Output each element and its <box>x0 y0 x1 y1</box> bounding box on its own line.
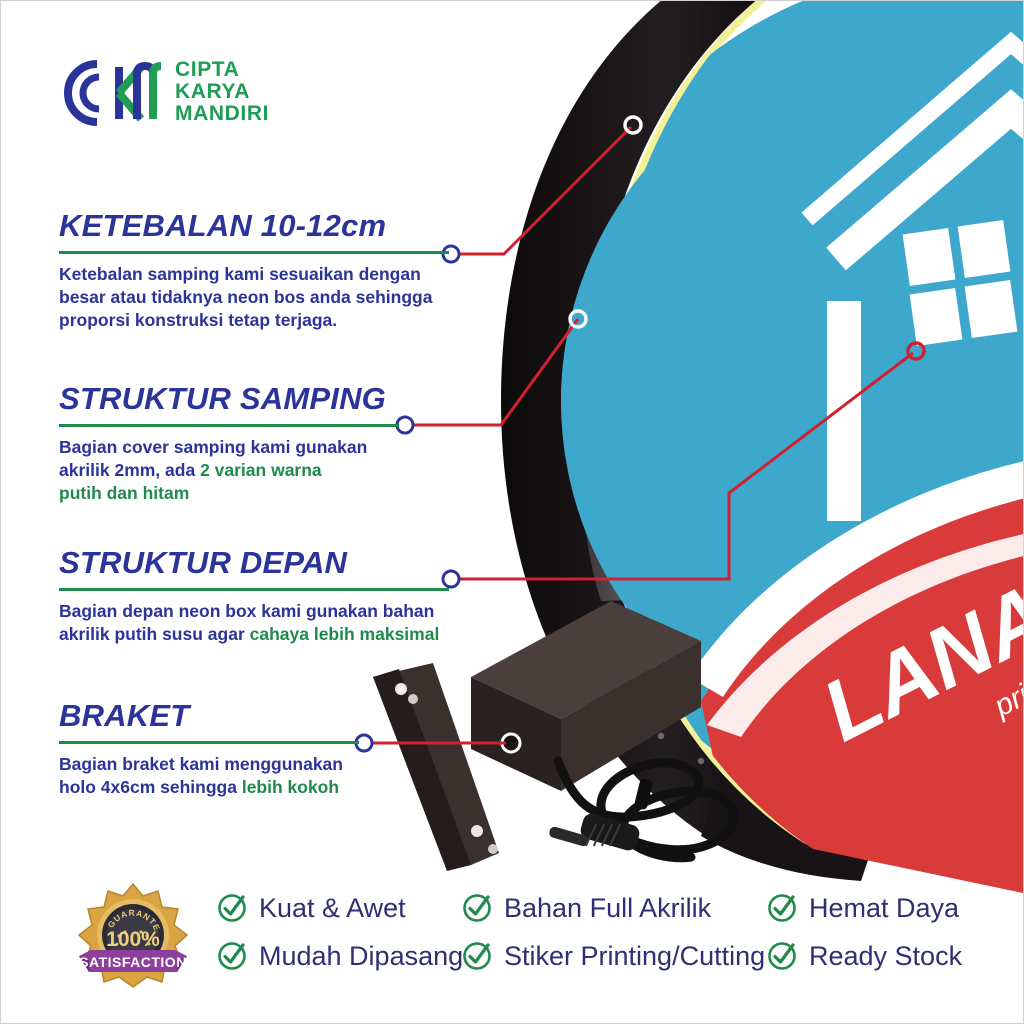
feature-item: Bahan Full Akrilik <box>461 884 765 932</box>
body-line: holo 4x6cm sehingga lebih kokoh <box>59 776 479 799</box>
feature-label: Hemat Daya <box>809 893 959 923</box>
green-check-circle-icon <box>766 892 798 924</box>
block-title-struktur-depan: STRUKTUR DEPAN <box>59 546 479 580</box>
block-title-braket: BRAKET <box>59 699 479 733</box>
leader-struktur-depan <box>456 353 913 579</box>
sign-text-sub: pria & <box>988 658 1024 723</box>
body-run-green: cahaya lebih maksimal <box>250 624 440 644</box>
endpoint-struktur-depan <box>908 343 924 359</box>
body-line: besar atau tidaknya neon bos anda sehing… <box>59 286 479 309</box>
window-panes-icon <box>903 220 1018 346</box>
badge-center-text: 100% <box>106 928 160 951</box>
endpoint-struktur-samping <box>570 311 586 327</box>
callout-endpoint-markers <box>570 117 641 327</box>
acrylic-edge-glow <box>597 1 807 841</box>
ckm-monogram-icon <box>57 58 167 128</box>
brand-wordmark: CIPTA KARYA MANDIRI <box>175 59 269 125</box>
feature-label: Kuat & Awet <box>259 893 406 923</box>
feature-item: Stiker Printing/Cutting <box>461 932 765 980</box>
infographic-page: LANA pria & <box>0 0 1024 1024</box>
block-body-ketebalan: Ketebalan samping kami sesuaikan dengan … <box>59 263 479 332</box>
feature-item: Mudah Dipasang <box>216 932 463 980</box>
title-rule-wrap <box>59 247 479 259</box>
sign-face-graphics: LANA pria & <box>541 1 1024 981</box>
body-line: Ketebalan samping kami sesuaikan dengan <box>59 263 479 286</box>
body-line: Bagian braket kami menggunakan <box>59 753 479 776</box>
title-rule-green <box>59 424 399 427</box>
cable-tie <box>634 778 654 810</box>
green-check-circle-icon <box>461 892 493 924</box>
callout-block-braket: BRAKET Bagian braket kami menggunakan ho… <box>59 699 479 799</box>
body-line: akrilik putih susu agar cahaya lebih mak… <box>59 623 479 646</box>
product-illustration: LANA pria & <box>1 1 1024 1024</box>
feature-label: Mudah Dipasang <box>259 941 463 971</box>
feature-item: Hemat Daya <box>766 884 962 932</box>
title-rule-wrap <box>59 420 479 432</box>
satisfaction-guarantee-seal-icon: GUARANTEED 100% SATISFACTION <box>73 880 193 992</box>
body-line: akrilik 2mm, ada 2 varian warna <box>59 459 479 482</box>
body-line: Bagian cover samping kami gunakan <box>59 436 479 459</box>
body-run-green: 2 varian warna <box>200 460 322 480</box>
body-run-navy: akrilik putih susu agar <box>59 624 250 644</box>
body-line-green: putih dan hitam <box>59 482 479 505</box>
green-check-circle-icon <box>216 892 248 924</box>
block-title-ketebalan: KETEBALAN 10-12cm <box>59 209 479 243</box>
green-check-circle-icon <box>766 940 798 972</box>
green-check-circle-icon <box>216 940 248 972</box>
body-run-navy: akrilik 2mm, ada <box>59 460 200 480</box>
features-column-3: Hemat Daya Ready Stock <box>766 884 962 980</box>
feature-item: Kuat & Awet <box>216 884 463 932</box>
callout-block-struktur-depan: STRUKTUR DEPAN Bagian depan neon box kam… <box>59 546 479 646</box>
side-cover-panel <box>582 346 704 764</box>
body-run-green: lebih kokoh <box>242 777 339 797</box>
callout-block-ketebalan: KETEBALAN 10-12cm Ketebalan samping kami… <box>59 209 479 332</box>
title-rule-green <box>59 251 449 254</box>
title-rule-green <box>59 741 359 744</box>
feature-label: Bahan Full Akrilik <box>504 893 711 923</box>
brand-line-3: MANDIRI <box>175 103 269 125</box>
features-bar: GUARANTEED 100% SATISFACTION <box>61 876 971 996</box>
title-rule-wrap <box>59 737 479 749</box>
feature-label: Stiker Printing/Cutting <box>504 941 765 971</box>
body-line: Bagian depan neon box kami gunakan bahan <box>59 600 479 623</box>
block-body-braket: Bagian braket kami menggunakan holo 4x6c… <box>59 753 479 799</box>
sign-text-main: LANA <box>808 566 1024 760</box>
body-line: proporsi konstruksi tetap terjaga. <box>59 309 479 332</box>
sign-face <box>561 41 1024 761</box>
callout-block-struktur-samping: STRUKTUR SAMPING Bagian cover samping ka… <box>59 382 479 505</box>
house-roof-window-icon <box>807 43 1024 521</box>
title-rule-wrap <box>59 584 479 596</box>
endpoint-ketebalan <box>625 117 641 133</box>
body-run-navy: holo 4x6cm sehingga <box>59 777 242 797</box>
title-rule-green <box>59 588 449 591</box>
brand-logo: CIPTA KARYA MANDIRI <box>57 56 357 136</box>
block-body-struktur-samping: Bagian cover samping kami gunakan akrili… <box>59 436 479 505</box>
power-cable <box>558 761 734 858</box>
feature-label: Ready Stock <box>809 941 962 971</box>
block-title-struktur-samping: STRUKTUR SAMPING <box>59 382 479 416</box>
features-column-1: Kuat & Awet Mudah Dipasang <box>216 884 463 980</box>
feature-item: Ready Stock <box>766 932 962 980</box>
sign-side-shell <box>501 1 881 881</box>
dc-power-jack <box>548 812 641 853</box>
features-column-2: Bahan Full Akrilik Stiker Printing/Cutti… <box>461 884 765 980</box>
block-body-struktur-depan: Bagian depan neon box kami gunakan bahan… <box>59 600 479 646</box>
leader-ketebalan <box>456 127 631 254</box>
brand-line-2: KARYA <box>175 81 269 103</box>
brand-line-1: CIPTA <box>175 59 269 81</box>
badge-ribbon-text: SATISFACTION <box>79 954 187 970</box>
green-check-circle-icon <box>461 940 493 972</box>
